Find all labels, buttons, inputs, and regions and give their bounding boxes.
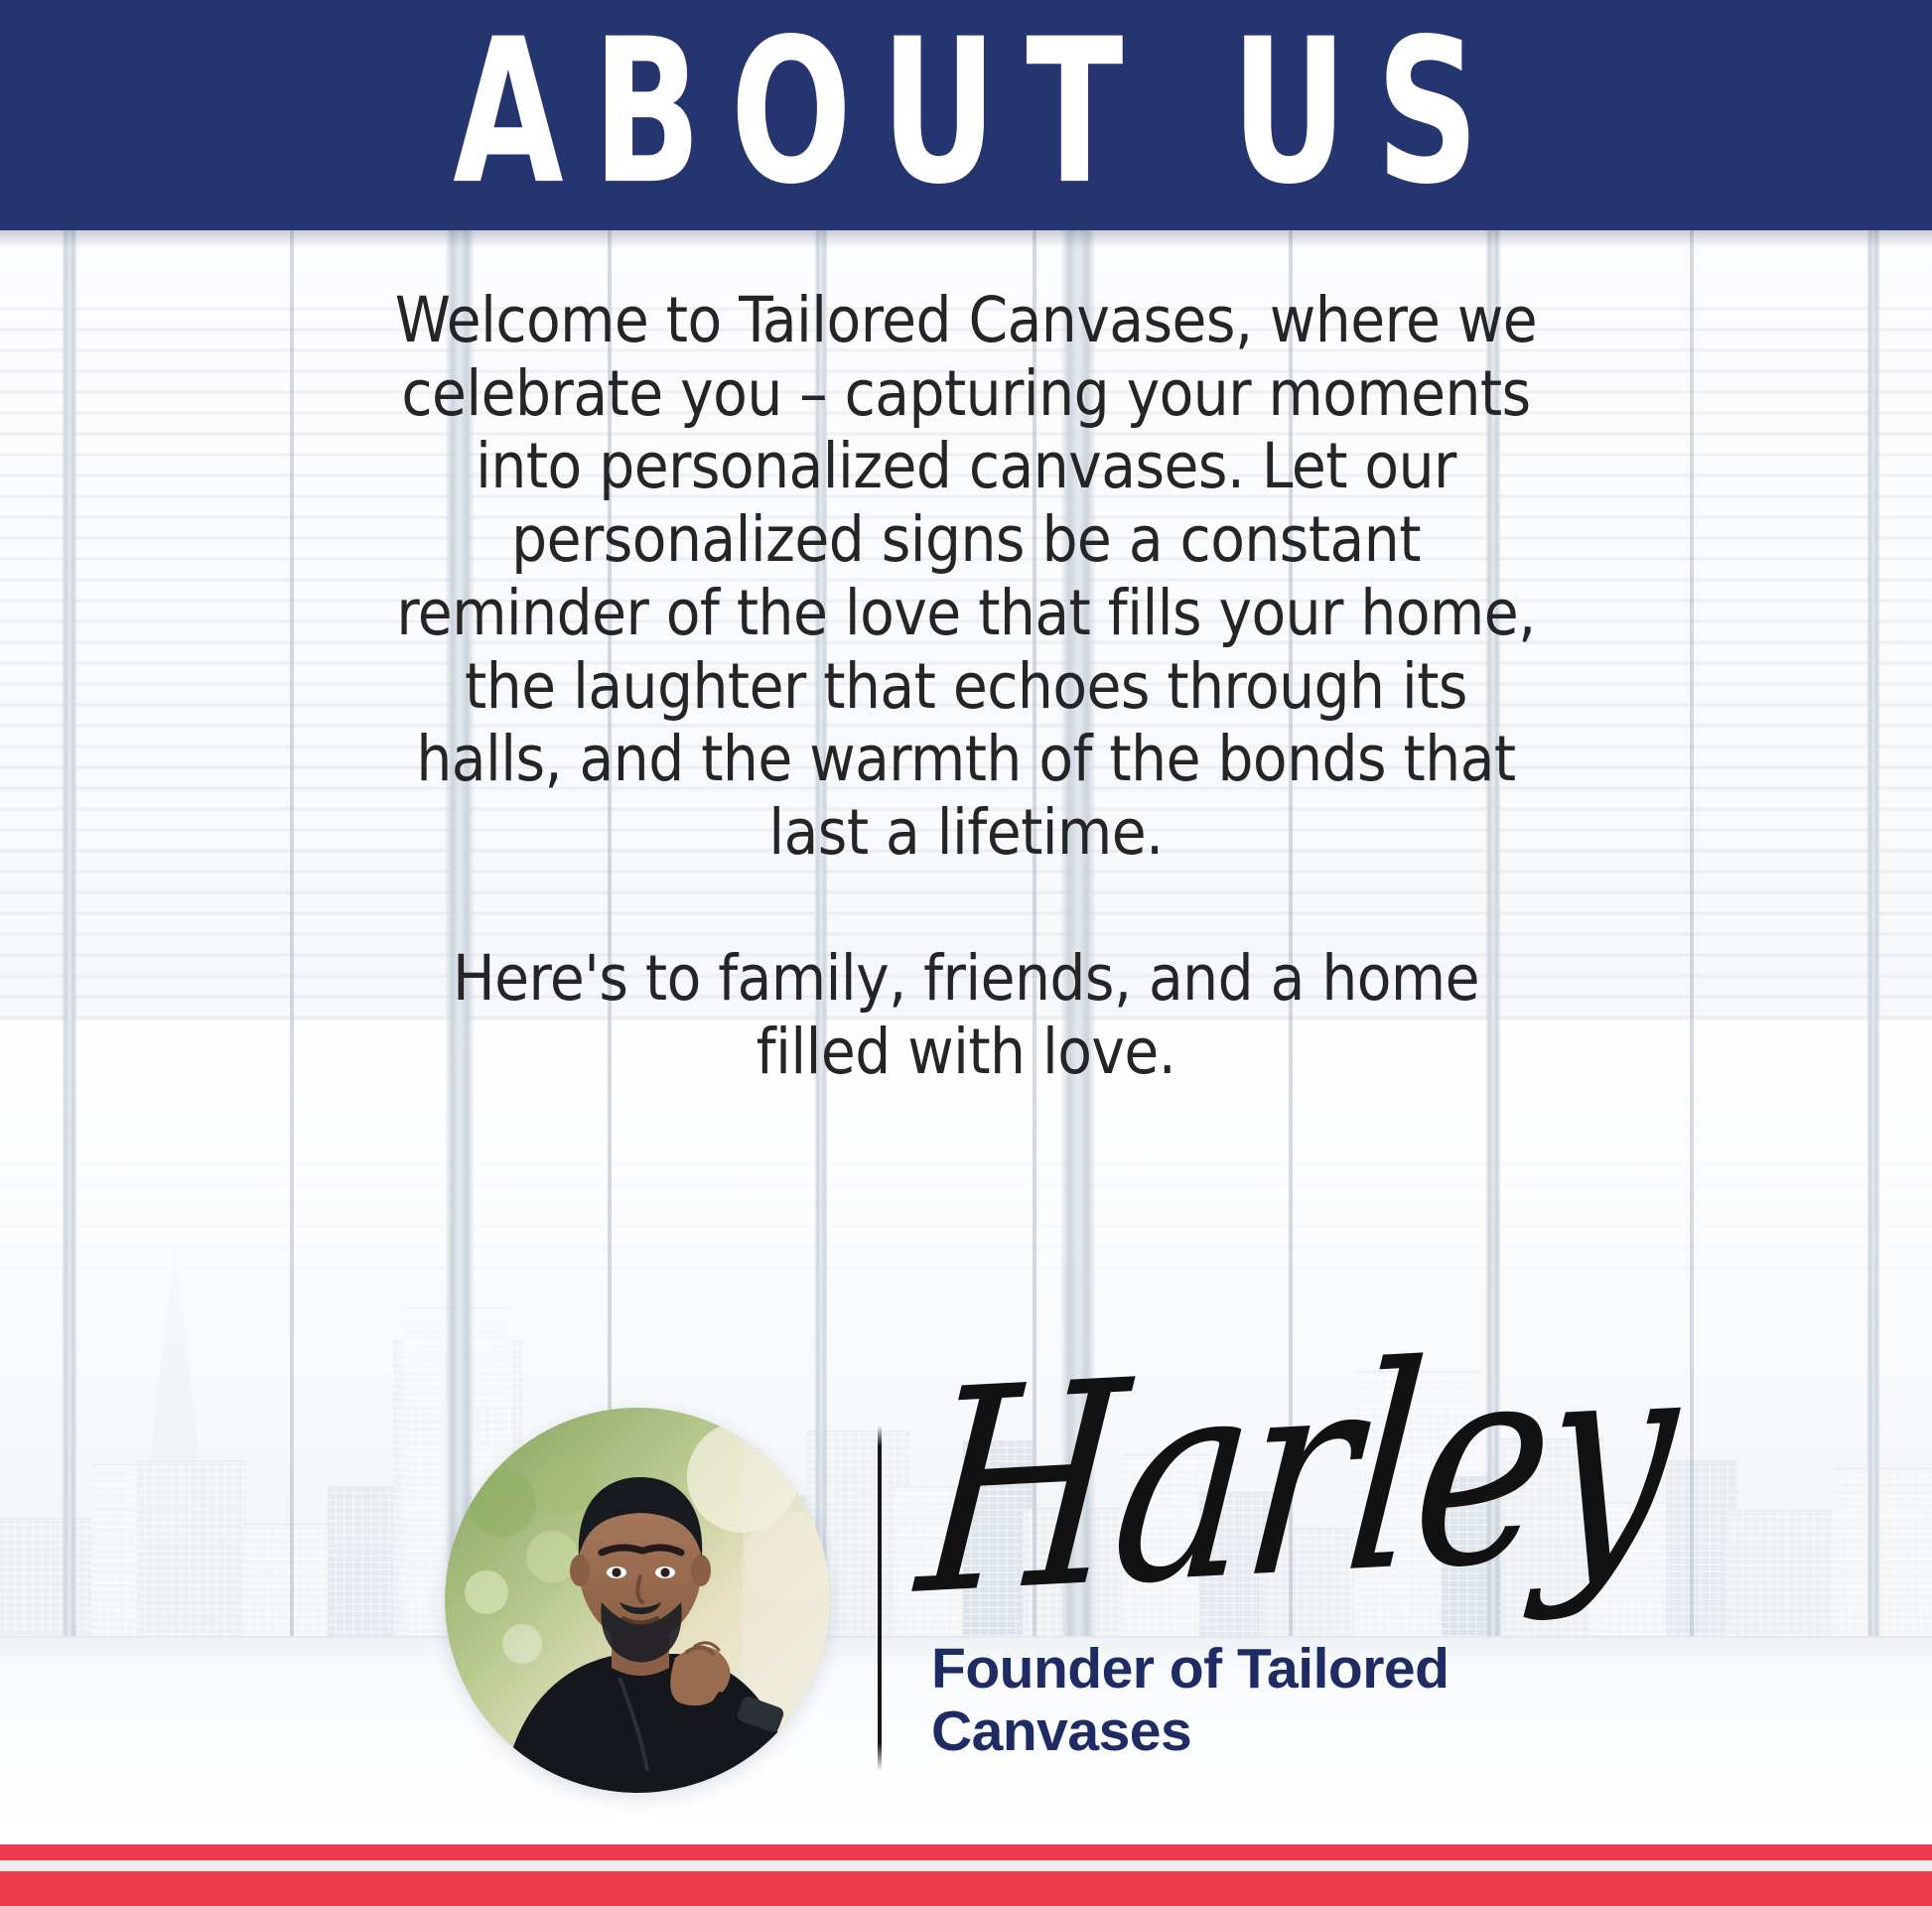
founder-signature-block: Harley Founder of Tailored Canvases bbox=[0, 1390, 1932, 1846]
about-paragraph-2: Here's to family, friends, and a home fi… bbox=[390, 942, 1542, 1088]
avatar bbox=[445, 1408, 830, 1793]
signature-divider bbox=[878, 1426, 882, 1771]
about-paragraph-1: Welcome to Tailored Canvases, where we c… bbox=[390, 284, 1542, 870]
stripe-red-lower bbox=[0, 1871, 1932, 1906]
founder-signature: Harley bbox=[911, 1317, 1681, 1637]
about-us-poster: ABOUT US Welcome to Tailored Canvases, w… bbox=[0, 0, 1932, 1906]
header-shadow bbox=[0, 230, 1932, 248]
stripe-gap bbox=[0, 1860, 1932, 1871]
about-us-body: Welcome to Tailored Canvases, where we c… bbox=[390, 284, 1542, 1089]
page-title: ABOUT US bbox=[424, 13, 1508, 212]
stripe-red-upper bbox=[0, 1844, 1932, 1860]
founder-title: Founder of Tailored Canvases bbox=[931, 1638, 1567, 1762]
header-bar: ABOUT US bbox=[0, 0, 1932, 230]
